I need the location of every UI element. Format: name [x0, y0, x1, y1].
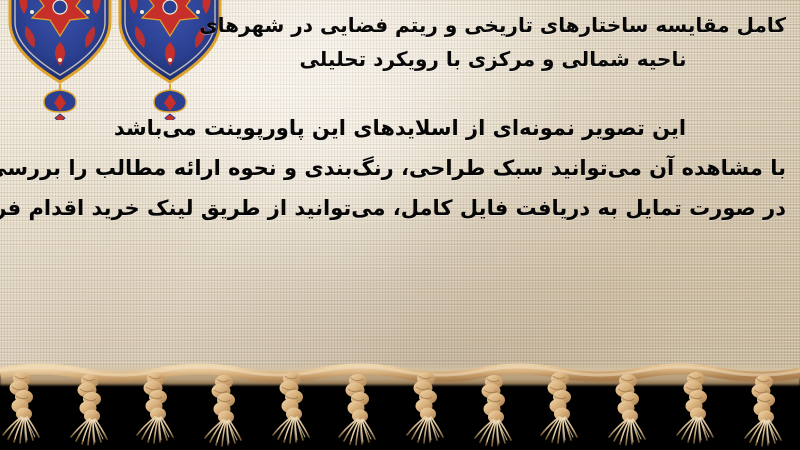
fringe-tassels	[0, 355, 800, 450]
presentation-slide: کامل مقایسه ساختارهای تاریخی و ریتم فضای…	[0, 0, 800, 450]
body-line-3: در صورت تمایل به دریافت فایل کامل، می‌تو…	[14, 188, 786, 228]
slide-body: این تصویر نمونه‌ای از اسلایدهای این پاور…	[14, 108, 786, 228]
body-line-1: این تصویر نمونه‌ای از اسلایدهای این پاور…	[14, 108, 786, 148]
carpet-knotted-fringe	[0, 355, 800, 450]
title-line-2: ناحیه شمالی و مرکزی با رویکرد تحلیلی	[200, 42, 786, 76]
body-line-2: با مشاهده آن می‌توانید سبک طراحی، رنگ‌بن…	[14, 148, 786, 188]
title-line-1: کامل مقایسه ساختارهای تاریخی و ریتم فضای…	[200, 8, 786, 42]
slide-title: کامل مقایسه ساختارهای تاریخی و ریتم فضای…	[200, 8, 786, 76]
